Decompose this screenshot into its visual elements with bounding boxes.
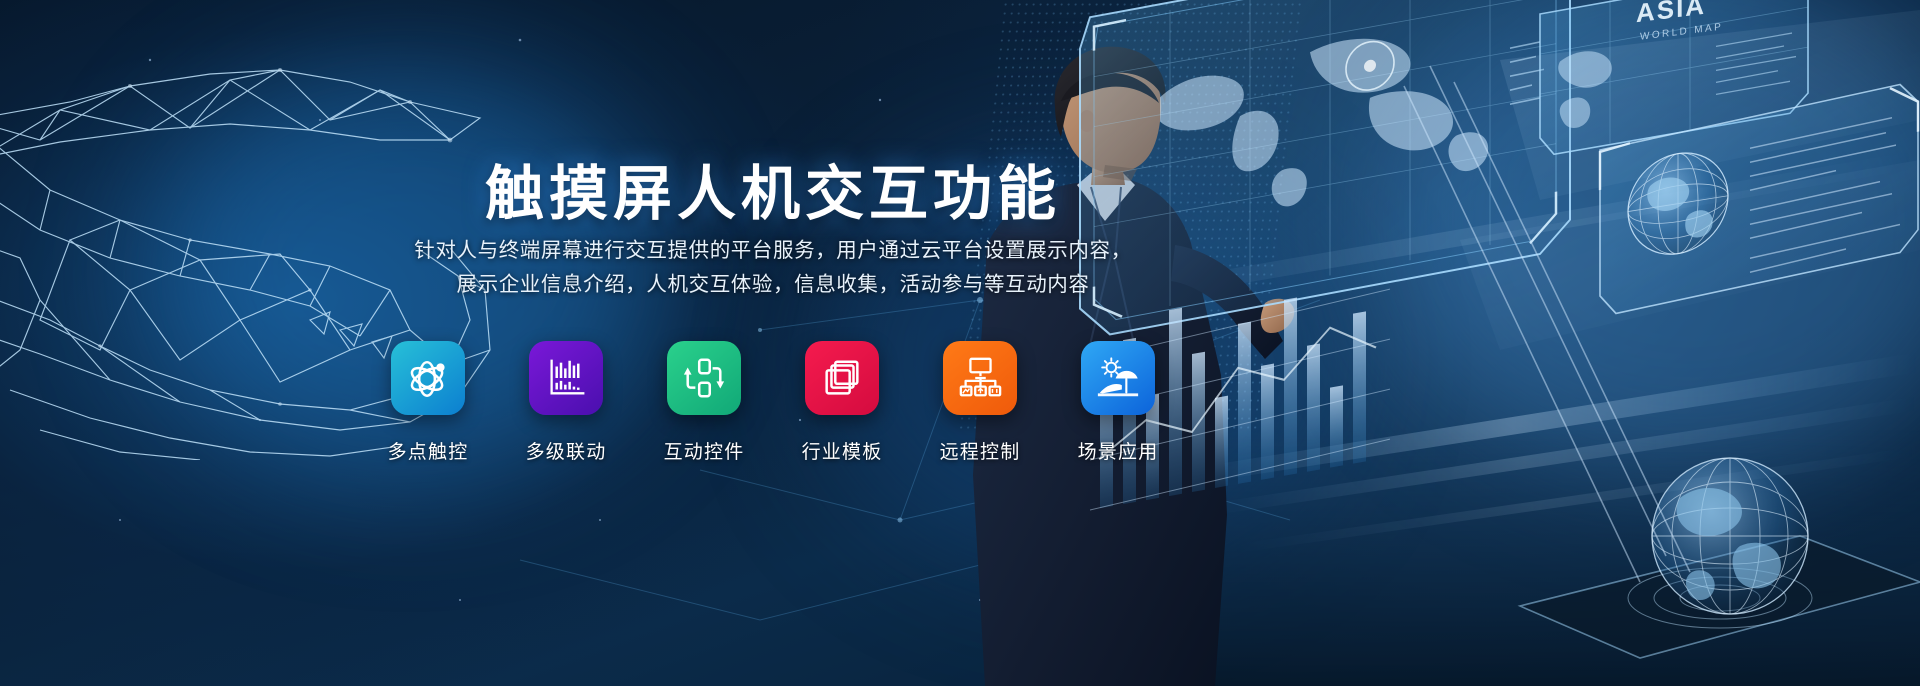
touchscreen-feature-banner: ASIA WORLD MAP [0, 0, 1920, 686]
feature-icon-tile[interactable] [1081, 341, 1155, 415]
feature-label: 远程控制 [940, 437, 1021, 464]
sync-boxes-icon [681, 355, 727, 401]
feature-label: 场景应用 [1078, 437, 1159, 464]
bar-chart-icon [543, 355, 589, 401]
feature-label: 互动控件 [664, 437, 745, 464]
banner-content: 触摸屏人机交互功能 针对人与终端屏幕进行交互提供的平台服务，用户通过云平台设置展… [0, 0, 1920, 686]
page-title: 触摸屏人机交互功能 [0, 146, 1546, 231]
beach-scene-icon [1095, 355, 1141, 401]
stacked-cards-icon [819, 355, 865, 401]
feature-item-remote-control[interactable]: 远程控制 [943, 341, 1017, 464]
feature-icon-tile[interactable] [667, 341, 741, 415]
feature-item-interactive-widget[interactable]: 互动控件 [667, 341, 741, 464]
feature-item-scene-application[interactable]: 场景应用 [1081, 341, 1155, 464]
subtitle-line-2: 展示企业信息介绍，人机交互体验，信息收集，活动参与等互动内容 [0, 268, 1546, 302]
feature-icon-tile[interactable] [943, 341, 1017, 415]
feature-icon-tile[interactable] [805, 341, 879, 415]
feature-item-industry-template[interactable]: 行业模板 [805, 341, 879, 464]
feature-icon-row: 多点触控 [0, 341, 1546, 464]
remote-network-icon [957, 355, 1003, 401]
atom-icon [405, 355, 451, 401]
feature-label: 多点触控 [388, 437, 469, 464]
feature-label: 行业模板 [802, 437, 883, 464]
feature-label: 多级联动 [526, 437, 607, 464]
feature-icon-tile[interactable] [391, 341, 465, 415]
feature-icon-tile[interactable] [529, 341, 603, 415]
feature-item-multi-level-linkage[interactable]: 多级联动 [529, 341, 603, 464]
subtitle-line-1: 针对人与终端屏幕进行交互提供的平台服务，用户通过云平台设置展示内容， [0, 234, 1546, 268]
feature-item-multi-touch[interactable]: 多点触控 [391, 341, 465, 464]
